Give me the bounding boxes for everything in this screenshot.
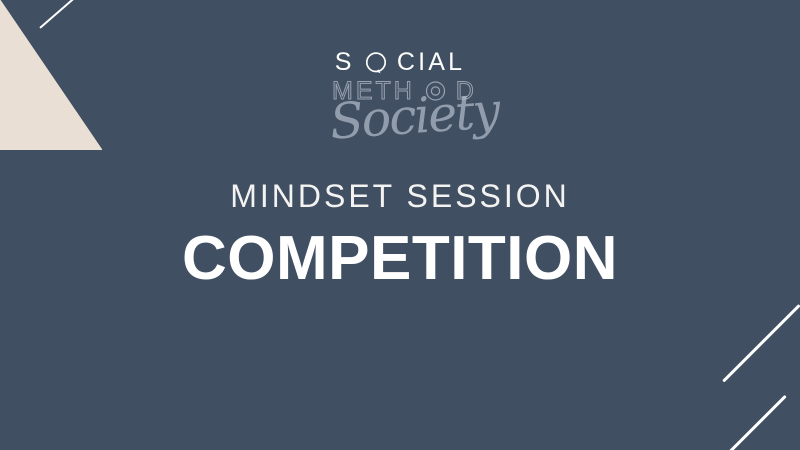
page-title: COMPETITION [0, 227, 800, 291]
session-eyebrow-label: MINDSET SESSION [0, 177, 800, 215]
brand-logo: S CIAL METH D S [0, 48, 800, 148]
bubble-o-icon [365, 52, 387, 74]
logo-script-society: Society [328, 85, 468, 150]
headline-block: MINDSET SESSION COMPETITION [0, 177, 800, 291]
logo-social-prefix: S [335, 48, 355, 76]
brand-logo-inner: S CIAL METH D S [332, 48, 468, 148]
logo-social-suffix: CIAL [397, 48, 465, 76]
slide-canvas: S CIAL METH D S [0, 0, 800, 450]
logo-wordmark-social: S CIAL [332, 48, 468, 76]
diagonal-accent-line-2 [728, 395, 786, 450]
diagonal-accent-line-1 [722, 304, 800, 382]
